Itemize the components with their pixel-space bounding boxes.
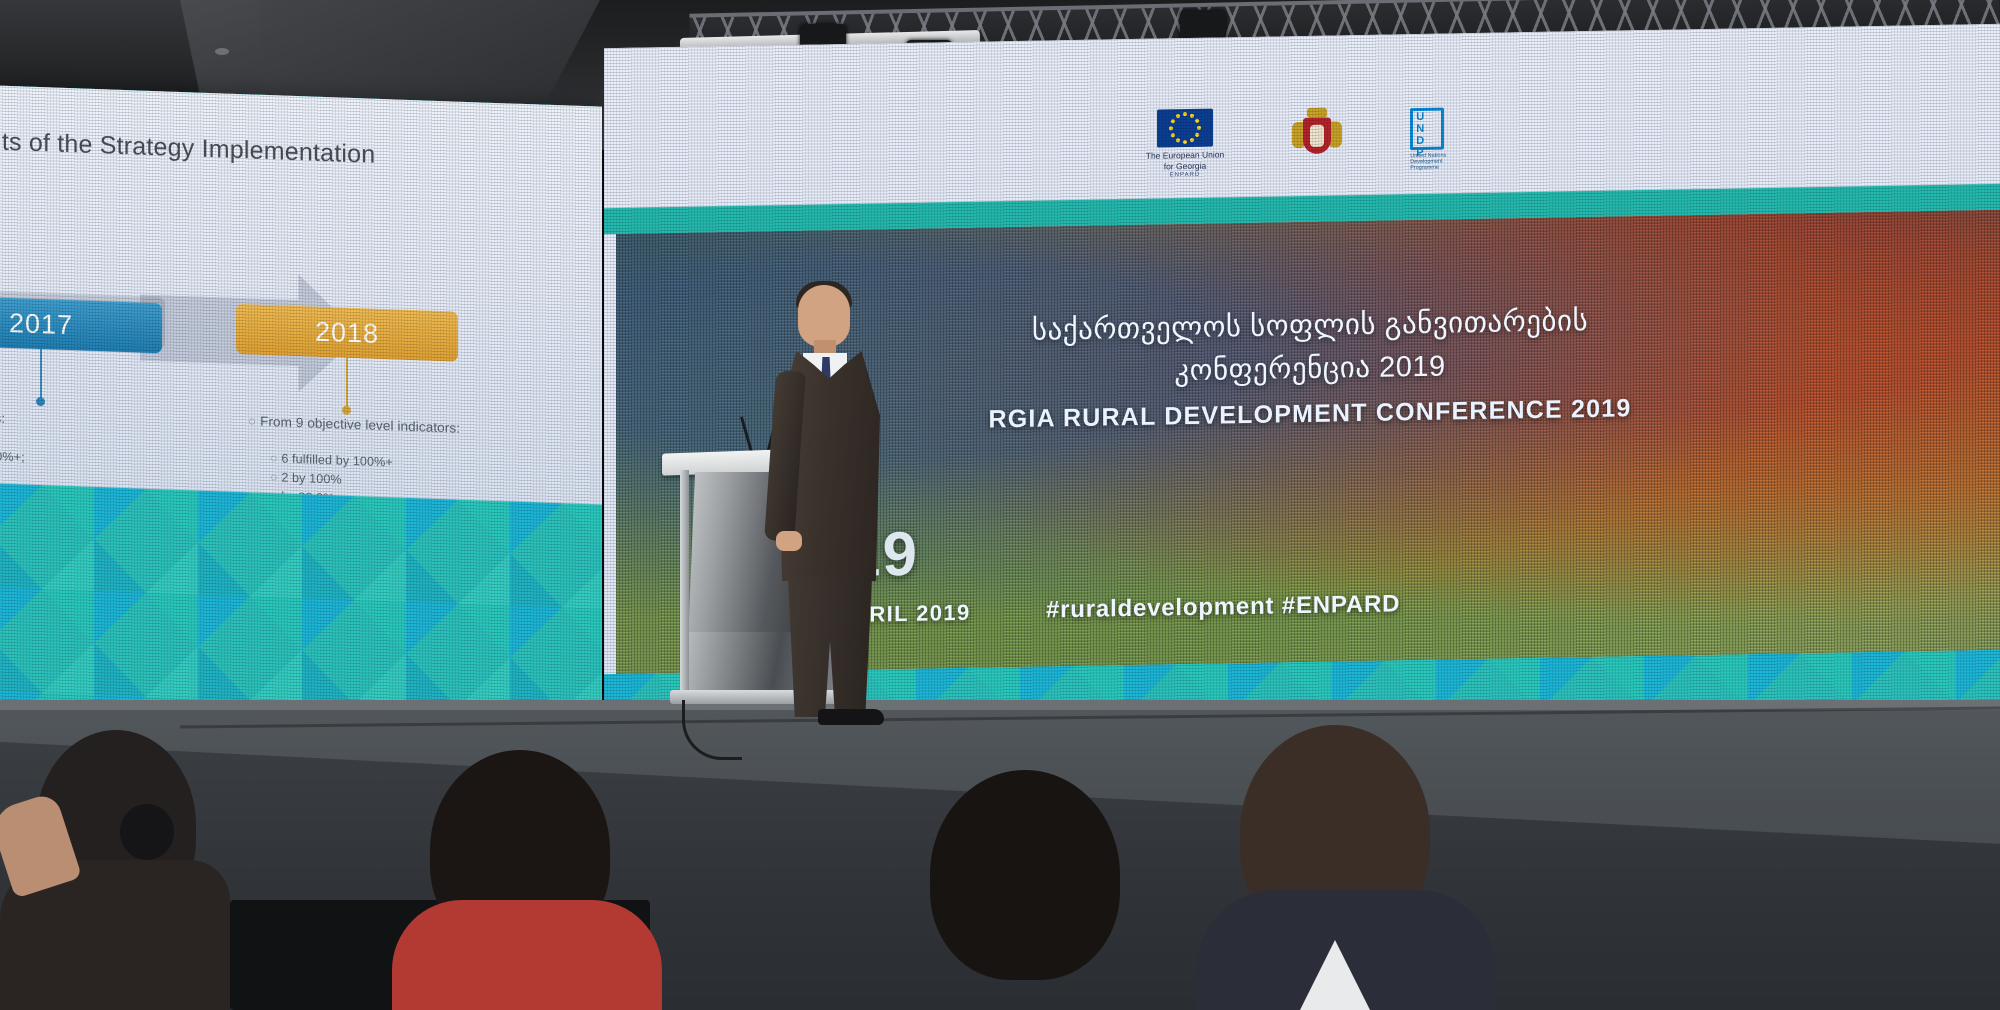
eu-logo-caption-line2: for Georgia	[1164, 160, 1207, 172]
speaker-head	[798, 285, 850, 347]
stage-floor-edge	[0, 700, 2000, 710]
connector-line-2017	[40, 349, 42, 401]
speaker-hand	[776, 531, 802, 551]
eu-logo-caption-line3: ENPARD	[1170, 171, 1201, 178]
slide-title: ults of the Strategy Implementation	[0, 127, 542, 176]
headphone-icon	[120, 804, 174, 860]
conference-hashtags: #ruraldevelopment #ENPARD	[1046, 590, 1400, 624]
speaker-shoe	[818, 709, 884, 725]
connector-line-2018	[346, 358, 348, 410]
undp-logo-icon: UNDP United Nations Development Programm…	[1410, 107, 1462, 170]
year-badge-2018: 2018	[236, 304, 458, 362]
georgia-coat-of-arms-icon	[1290, 107, 1344, 174]
eu-logo-caption-line1: The European Union	[1146, 149, 1224, 161]
conference-stage-scene: ults of the Strategy Implementation 2017…	[0, 0, 2000, 1010]
eu-flag-icon	[1157, 108, 1213, 147]
led-video-wall: ults of the Strategy Implementation 2017…	[0, 0, 2000, 760]
eu-logo-block: The European Union for Georgia ENPARD	[1146, 108, 1224, 178]
presentation-slide-panel: ults of the Strategy Implementation 2017…	[0, 85, 602, 726]
undp-letters: UNDP	[1416, 111, 1424, 159]
undp-caption: United Nations Development Programme	[1410, 152, 1462, 171]
speaker-legs	[788, 577, 872, 717]
audience-shoulders	[392, 900, 662, 1010]
audience-head	[930, 770, 1120, 980]
slide-bottom-pattern-band	[0, 483, 602, 726]
slide-content-area: ults of the Strategy Implementation 2017…	[0, 85, 602, 504]
podium-post-left	[680, 470, 689, 692]
right-indicators-heading-text: From 9 objective level indicators:	[260, 414, 460, 436]
speaker-person	[770, 285, 890, 730]
connector-dot-2017	[36, 397, 45, 406]
year-badge-2017: 2017	[0, 295, 162, 353]
